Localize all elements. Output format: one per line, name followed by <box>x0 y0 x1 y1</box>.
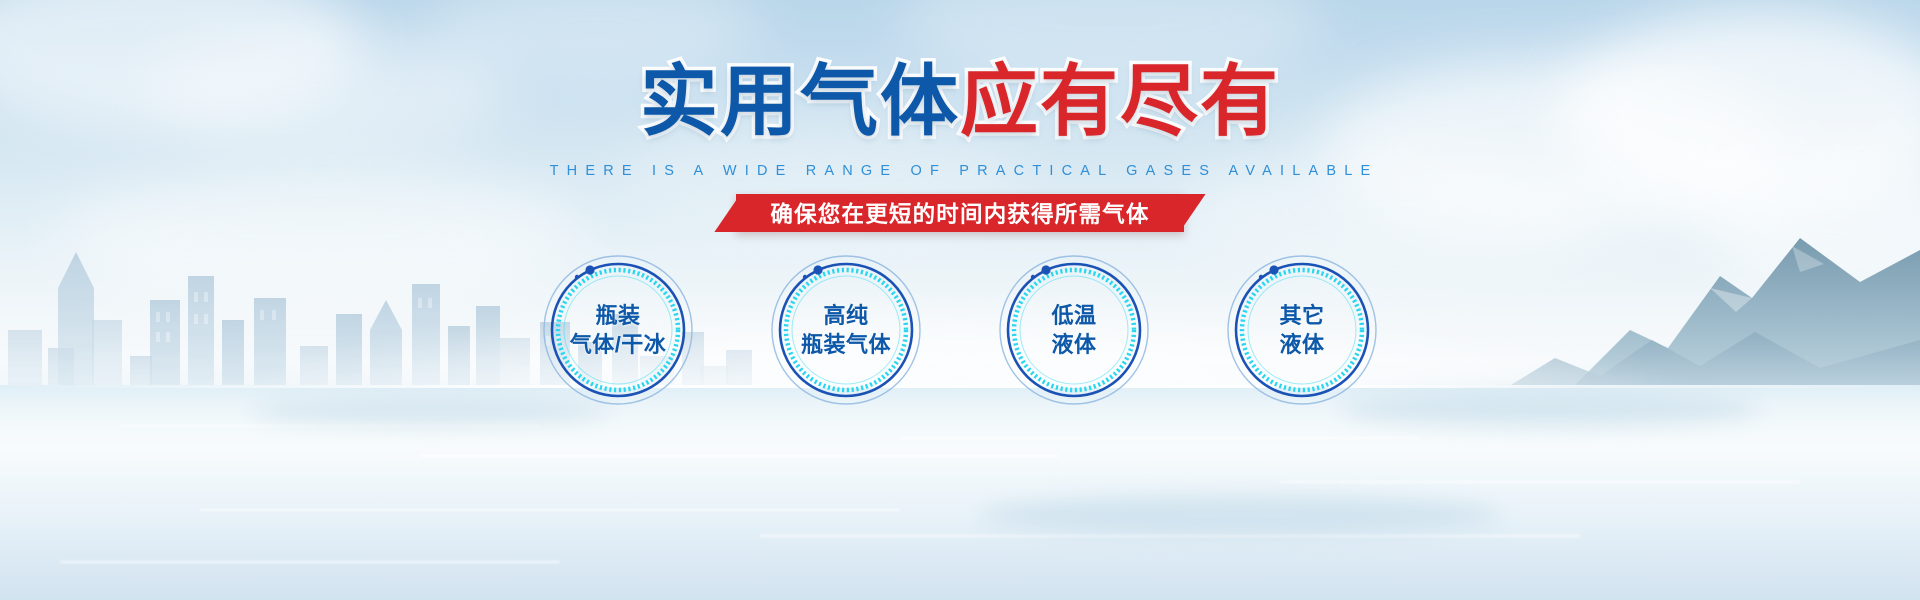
banner-content: 实用气体应有尽有 THERE IS A WIDE RANGE OF PRACTI… <box>0 0 1920 600</box>
headline-blue-part: 实用气体 <box>640 62 960 140</box>
badge-label: 高纯 瓶装气体 <box>768 252 924 408</box>
badge-label: 低温 液体 <box>996 252 1152 408</box>
badge-label-line1: 低温 <box>1051 301 1096 330</box>
headline-red-part: 应有尽有 <box>960 62 1280 140</box>
badge-bottled-gas-dry-ice[interactable]: 瓶装 气体/干冰 <box>540 252 696 408</box>
badge-label: 瓶装 气体/干冰 <box>540 252 696 408</box>
ribbon-container: 确保您在更短的时间内获得所需气体 <box>0 194 1920 232</box>
badge-label-line1: 其它 <box>1279 301 1324 330</box>
page-title: 实用气体应有尽有 <box>0 62 1920 140</box>
red-ribbon: 确保您在更短的时间内获得所需气体 <box>736 194 1183 232</box>
badge-label-line2: 液体 <box>1279 330 1324 359</box>
english-tagline: THERE IS A WIDE RANGE OF PRACTICAL GASES… <box>0 163 1920 179</box>
badge-label-line2: 瓶装气体 <box>801 330 891 359</box>
badge-label: 其它 液体 <box>1224 252 1380 408</box>
badge-label-line1: 瓶装 <box>595 301 640 330</box>
badge-row: 瓶装 气体/干冰 高纯 瓶装气体 <box>0 252 1920 408</box>
badge-other-liquid[interactable]: 其它 液体 <box>1224 252 1380 408</box>
badge-label-line2: 气体/干冰 <box>570 330 667 359</box>
ribbon-text: 确保您在更短的时间内获得所需气体 <box>770 197 1149 229</box>
hero-banner: 实用气体应有尽有 THERE IS A WIDE RANGE OF PRACTI… <box>0 0 1920 600</box>
badge-label-line2: 液体 <box>1051 330 1096 359</box>
badge-cryogenic-liquid[interactable]: 低温 液体 <box>996 252 1152 408</box>
badge-label-line1: 高纯 <box>823 301 868 330</box>
badge-high-purity-bottled-gas[interactable]: 高纯 瓶装气体 <box>768 252 924 408</box>
